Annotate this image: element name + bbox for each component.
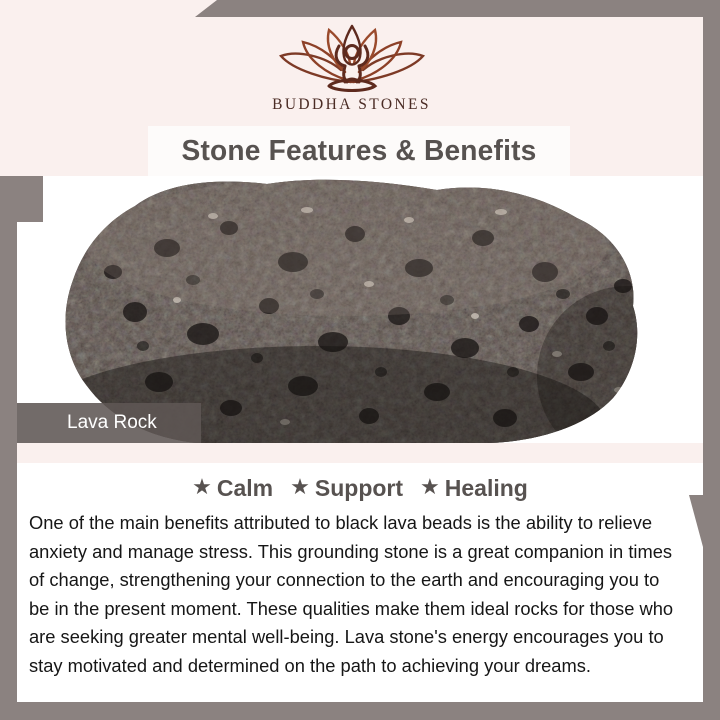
header-section: BUDDHA STONES Stone Features & Benefits — [0, 0, 703, 176]
star-icon: ★ — [192, 476, 212, 498]
photo-corner-accent — [17, 176, 43, 222]
brand-name: BUDDHA STONES — [0, 96, 703, 114]
benefit-label: Healing — [445, 475, 528, 502]
top-corner-accent — [195, 0, 703, 17]
benefit-label: Support — [315, 475, 403, 502]
title-banner: Stone Features & Benefits — [148, 126, 570, 176]
section-divider — [17, 443, 703, 463]
benefits-section: ★ Calm ★ Support ★ Healing One of the ma… — [17, 463, 703, 702]
benefit-item-healing: ★ Healing — [420, 475, 528, 502]
page-title: Stone Features & Benefits — [181, 135, 536, 168]
brand-logo: BUDDHA STONES — [0, 20, 703, 114]
description-paragraph: One of the main benefits attributed to b… — [29, 509, 681, 680]
photo-caption-band: Lava Rock — [17, 403, 201, 443]
benefit-item-calm: ★ Calm — [192, 475, 273, 502]
star-icon: ★ — [420, 476, 440, 498]
benefit-item-support: ★ Support — [290, 475, 403, 502]
benefit-label: Calm — [217, 475, 273, 502]
lotus-meditation-icon — [267, 20, 437, 94]
infographic-page: BUDDHA STONES Stone Features & Benefits — [0, 0, 720, 720]
photo-caption: Lava Rock — [17, 412, 157, 434]
star-icon: ★ — [290, 476, 310, 498]
benefits-list: ★ Calm ★ Support ★ Healing — [17, 463, 703, 507]
